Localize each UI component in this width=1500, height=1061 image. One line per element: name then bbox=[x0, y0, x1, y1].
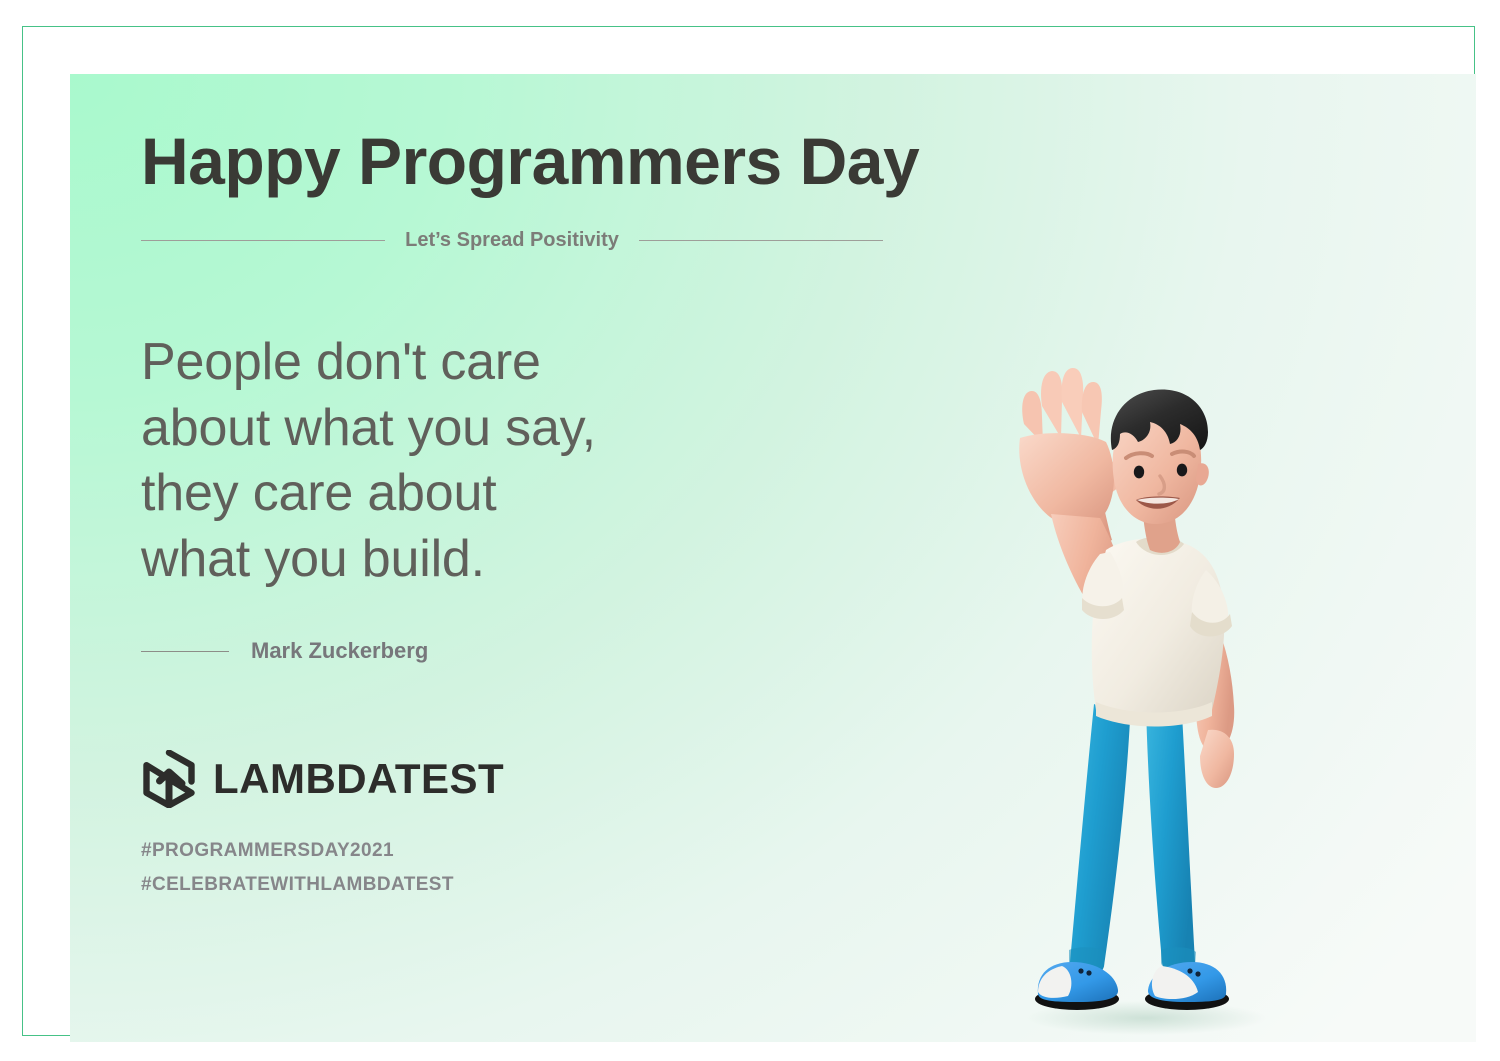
quote-line: People don't care bbox=[141, 330, 921, 396]
poster-outer-frame: Happy Programmers Day Let’s Spread Posit… bbox=[22, 26, 1475, 1036]
hashtag: #CELEBRATEWITHLAMBDATEST bbox=[141, 868, 921, 901]
waving-3d-character-illustration bbox=[950, 354, 1330, 1054]
subtitle-rule-right bbox=[639, 240, 883, 241]
brand-logo: LAMBDATEST bbox=[141, 750, 921, 808]
quote-line: they care about bbox=[141, 461, 921, 527]
quote-attribution: Mark Zuckerberg bbox=[141, 638, 921, 664]
character-head bbox=[1111, 389, 1209, 524]
quote-block: People don't care about what you say, th… bbox=[141, 330, 921, 592]
subtitle-row: Let’s Spread Positivity bbox=[141, 229, 883, 252]
attribution-name: Mark Zuckerberg bbox=[251, 638, 428, 664]
hashtag-list: #PROGRAMMERSDAY2021 #CELEBRATEWITHLAMBDA… bbox=[141, 834, 921, 901]
quote-line: what you build. bbox=[141, 527, 921, 593]
brand-wordmark: LAMBDATEST bbox=[213, 758, 504, 800]
character-eye-right bbox=[1177, 464, 1187, 477]
page-title: Happy Programmers Day bbox=[141, 126, 921, 197]
lambdatest-hexagon-arrow-icon bbox=[141, 750, 197, 808]
attribution-rule bbox=[141, 651, 229, 652]
character-eye-left bbox=[1134, 466, 1144, 479]
quote-line: about what you say, bbox=[141, 396, 921, 462]
subtitle-rule-left bbox=[141, 240, 385, 241]
poster-content-column: Happy Programmers Day Let’s Spread Posit… bbox=[141, 126, 921, 901]
character-legs bbox=[1069, 704, 1196, 978]
hashtag: #PROGRAMMERSDAY2021 bbox=[141, 834, 921, 867]
character-tshirt bbox=[1082, 537, 1232, 727]
poster-gradient-panel: Happy Programmers Day Let’s Spread Posit… bbox=[70, 74, 1476, 1042]
poster-subtitle: Let’s Spread Positivity bbox=[405, 229, 619, 252]
